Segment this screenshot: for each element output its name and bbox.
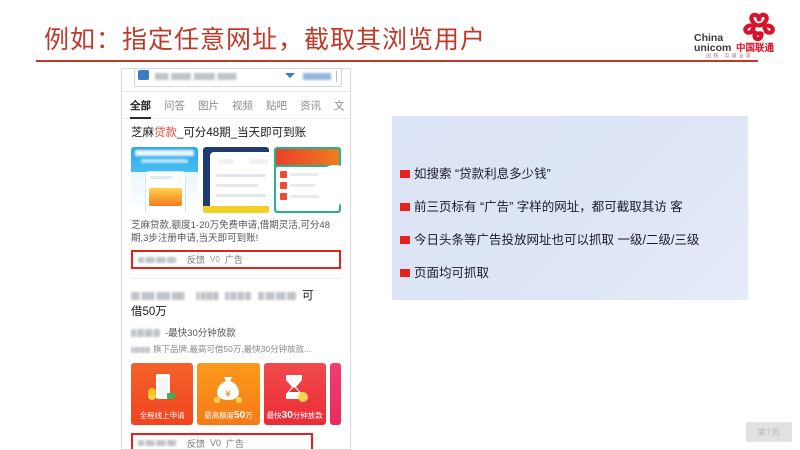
redacted-advertiser-name-2 — [138, 440, 182, 446]
thumbnail-app-promo[interactable] — [131, 147, 198, 213]
svg-text:unicom: unicom — [694, 42, 731, 54]
redacted-text-a — [131, 292, 193, 300]
result-1-title-highlight: 贷款 — [154, 127, 177, 139]
redacted-advertiser-name — [138, 257, 182, 263]
bullet-text-3: 今日头条等广告投放网址也可以抓取 一级/二级/三级 — [414, 232, 699, 248]
promo-card-num-2: 50 — [234, 410, 245, 421]
tab-qa[interactable]: 问答 — [164, 98, 185, 113]
tab-video[interactable]: 视频 — [232, 98, 253, 113]
promo-card-max-amount[interactable]: ¥ 最高额度50万 — [197, 363, 259, 425]
bottom-bar — [203, 206, 270, 213]
tab-news[interactable]: 资讯 — [300, 98, 321, 113]
separator-2: V0 — [210, 438, 221, 448]
tab-wenku[interactable]: 文 — [334, 98, 345, 113]
feedback-link-2[interactable]: 反馈 — [187, 437, 205, 450]
promo-card-online-application[interactable]: 全程线上申请 — [131, 363, 193, 425]
phone-mockup-icon — [145, 171, 186, 213]
bullet-square-icon — [400, 236, 410, 244]
search-engine-icon — [138, 70, 149, 80]
redacted-text-c — [225, 292, 255, 300]
thumb-subcaption — [141, 159, 188, 163]
phone-coins-icon — [147, 373, 177, 407]
money-bag-icon: ¥ — [213, 373, 243, 405]
thumbnail-form-screen[interactable] — [203, 147, 270, 213]
result-1-thumbnails — [131, 147, 341, 213]
search-query-text — [155, 73, 250, 80]
result-divider — [131, 278, 341, 279]
page-watermark: 第7页 — [746, 422, 792, 442]
title-divider — [36, 60, 758, 62]
redacted-text-b — [196, 292, 222, 300]
search-results: 芝麻贷款_可分48期_当天即可到账 — [122, 119, 350, 450]
ad-label-1: 广告 — [225, 253, 243, 266]
result-2-description-text: 旗下品牌,最高可借50万,最快30分钟放款... — [153, 344, 311, 354]
bullet-square-icon — [400, 170, 410, 178]
result-2-title[interactable]: 可借50万 — [131, 288, 341, 320]
tab-images[interactable]: 图片 — [198, 98, 219, 113]
result-1-title[interactable]: 芝麻贷款_可分48期_当天即可到账 — [131, 126, 341, 141]
svg-text:创新·沟通全家: 创新·沟通全家 — [706, 53, 753, 59]
bullet-text-2: 前三页标有 “广告” 字样的网址，都可截取其访 客 — [414, 199, 683, 215]
page-title: 例如：指定任意网址，截取其浏览用户 — [44, 20, 486, 56]
result-2-title-line2: 借50万 — [131, 306, 167, 318]
chevron-down-icon[interactable] — [285, 73, 295, 78]
result-1-title-post: _可分48期_当天即可到账 — [177, 127, 306, 139]
result-1-title-pre: 芝麻 — [131, 127, 154, 139]
tab-tieba[interactable]: 贴吧 — [266, 98, 287, 113]
bullet-square-icon — [400, 269, 410, 277]
promo-card-partial[interactable] — [330, 363, 341, 425]
promo-card-label-2-text: 最高额度 — [204, 411, 234, 420]
search-tab-bar[interactable]: 全部 问答 图片 视频 贴吧 资讯 文 — [122, 92, 350, 119]
thumb-caption — [135, 150, 194, 156]
search-result-screenshot: 全部 问答 图片 视频 贴吧 资讯 文 芝麻贷款_可分48期_当天即可到账 — [121, 68, 351, 450]
bullet-text-4: 页面均可抓取 — [414, 265, 489, 281]
result-2-title-tail: 可 — [302, 290, 314, 302]
search-button[interactable] — [303, 73, 331, 80]
bullet-item-2: 前三页标有 “广告” 字样的网址，都可截取其访 客 — [400, 199, 740, 215]
promo-card-suffix-2: 万 — [245, 411, 253, 420]
tab-all[interactable]: 全部 — [130, 98, 151, 113]
result-2-description: 旗下品牌,最高可借50万,最快30分钟放款... — [131, 343, 341, 355]
redacted-text-d — [258, 292, 302, 300]
promo-card-suffix-3: 分钟放款 — [293, 411, 323, 420]
form-card — [210, 152, 270, 213]
bullet-square-icon — [400, 203, 410, 211]
hourglass-icon — [281, 373, 309, 405]
china-unicom-logo: China unicom 中国联通 创新·沟通全家 — [692, 12, 790, 58]
bullet-item-3: 今日头条等广告投放网址也可以抓取 一级/二级/三级 — [400, 232, 740, 248]
ad-label-highlight-2: 反馈 V0 广告 — [131, 433, 313, 450]
promo-card-num-3: 30 — [282, 410, 293, 421]
promo-card-label-3: 最快30分钟放款 — [264, 410, 326, 421]
ad-label-highlight-1: 反馈 V0 广告 — [131, 250, 341, 269]
bullet-item-4: 页面均可抓取 — [400, 265, 740, 281]
ad-label-2: 广告 — [226, 437, 244, 450]
bullet-list: 如搜索 “贷款利息多少钱” 前三页标有 “广告” 字样的网址，都可截取其访 客 … — [400, 166, 740, 298]
separator-1: V0 — [210, 255, 220, 264]
result-2-subtitle-text: -最快30分钟放款 — [165, 328, 236, 339]
result-1-description: 芝麻贷款,额度1-20万免费申请,借期灵活,可分48期,3步注册申请,当天即可到… — [131, 219, 341, 245]
promo-card-fast-payout[interactable]: 最快30分钟放款 — [264, 363, 326, 425]
promo-card-label-2: 最高额度50万 — [197, 410, 259, 421]
search-input[interactable] — [134, 68, 342, 87]
svg-text:中国联通: 中国联通 — [736, 42, 775, 54]
mobile-search-bar[interactable] — [122, 69, 350, 92]
redacted-brand-2 — [131, 347, 153, 353]
bullet-text-1: 如搜索 “贷款利息多少钱” — [414, 166, 551, 182]
feedback-link-1[interactable]: 反馈 — [187, 253, 205, 266]
divider — [336, 71, 337, 82]
info-panel: 如搜索 “贷款利息多少钱” 前三页标有 “广告” 字样的网址，都可截取其访 客 … — [392, 116, 748, 300]
banner — [276, 149, 339, 165]
thumbnail-list-screen[interactable] — [274, 147, 341, 213]
bullet-item-1: 如搜索 “贷款利息多少钱” — [400, 166, 740, 182]
result-2-subtitle: -最快30分钟放款 — [131, 325, 341, 339]
promo-card-label-1: 全程线上申请 — [131, 410, 193, 421]
svg-text:¥: ¥ — [226, 390, 232, 400]
promo-card-label-3-text: 最快 — [267, 411, 282, 420]
promo-card-row: 全程线上申请 ¥ 最高额度50万 最快30分钟放款 — [131, 363, 341, 425]
redacted-brand — [131, 329, 165, 337]
